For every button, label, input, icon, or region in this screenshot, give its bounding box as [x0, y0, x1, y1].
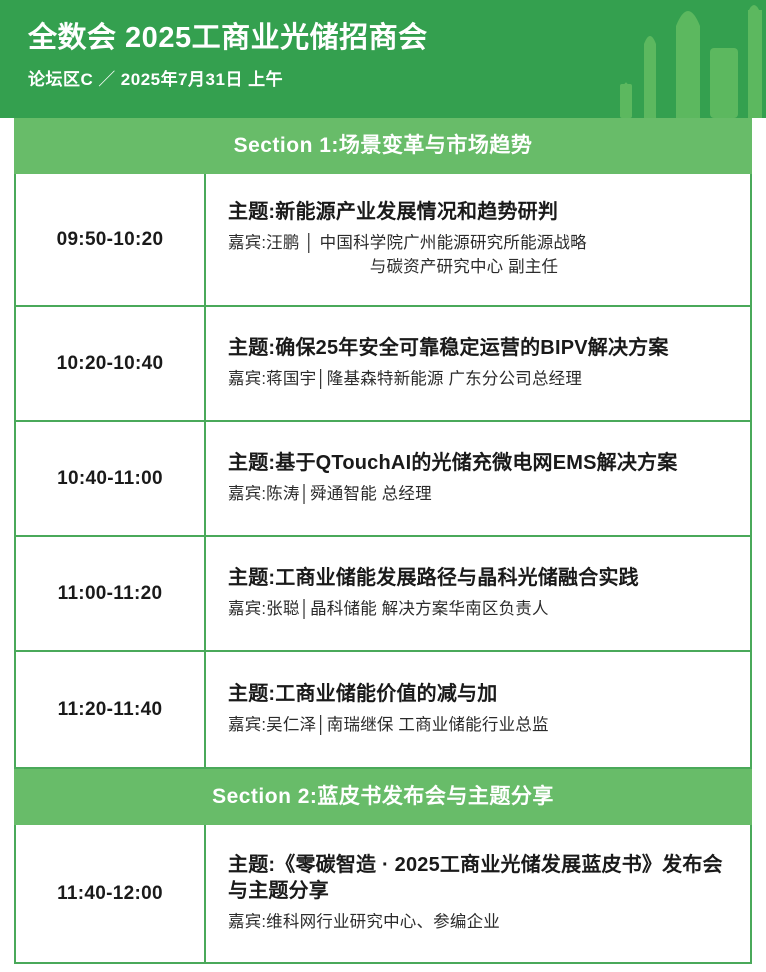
guest-line-1: 嘉宾:汪鹏 │ 中国科学院广州能源研究所能源战略	[228, 234, 587, 252]
agenda-table: Section 1:场景变革与市场趋势 09:50-10:20 主题:新能源产业…	[14, 118, 752, 964]
time-label: 11:20-11:40	[58, 699, 163, 721]
section-rows-2: 11:40-12:00 主题:《零碳智造 · 2025工商业光储发展蓝皮书》发布…	[14, 825, 752, 964]
session-topic: 主题:基于QTouchAI的光储充微电网EMS解决方案	[228, 450, 732, 476]
table-row[interactable]: 10:20-10:40 主题:确保25年安全可靠稳定运营的BIPV解决方案 嘉宾…	[16, 307, 750, 422]
header-subtitle: 论坛区C／2025年7月31日 上午	[28, 65, 428, 90]
session-guest: 嘉宾:蒋国宇│隆基森特新能源 广东分公司总经理	[228, 368, 732, 392]
subtitle-separator: ／	[93, 70, 121, 89]
session-topic: 主题:《零碳智造 · 2025工商业光储发展蓝皮书》发布会与主题分享	[228, 852, 732, 904]
table-row[interactable]: 09:50-10:20 主题:新能源产业发展情况和趋势研判 嘉宾:汪鹏 │ 中国…	[16, 174, 750, 307]
table-row[interactable]: 11:20-11:40 主题:工商业储能价值的减与加 嘉宾:吴仁泽│南瑞继保 工…	[16, 652, 750, 767]
city-skyline-icon	[600, 0, 766, 118]
venue-label: 论坛区C	[28, 70, 93, 89]
time-label: 09:50-10:20	[57, 229, 164, 251]
page-title: 全数会 2025工商业光储招商会	[28, 20, 428, 56]
time-label: 11:00-11:20	[58, 583, 163, 605]
time-cell: 11:00-11:20	[16, 537, 206, 650]
detail-cell: 主题:确保25年安全可靠稳定运营的BIPV解决方案 嘉宾:蒋国宇│隆基森特新能源…	[206, 307, 750, 420]
time-cell: 10:40-11:00	[16, 422, 206, 535]
session-guest: 嘉宾:汪鹏 │ 中国科学院广州能源研究所能源战略 与碳资产研究中心 副主任	[228, 232, 732, 280]
detail-cell: 主题:《零碳智造 · 2025工商业光储发展蓝皮书》发布会与主题分享 嘉宾:维科…	[206, 825, 750, 962]
time-cell: 11:40-12:00	[16, 825, 206, 962]
date-label: 2025年7月31日 上午	[121, 70, 283, 89]
time-cell: 09:50-10:20	[16, 174, 206, 305]
detail-cell: 主题:工商业储能发展路径与晶科光储融合实践 嘉宾:张聪│晶科储能 解决方案华南区…	[206, 537, 750, 650]
session-topic: 主题:工商业储能价值的减与加	[228, 681, 732, 707]
section-header-2: Section 2:蓝皮书发布会与主题分享	[14, 769, 752, 825]
poster-header: 全数会 2025工商业光储招商会 论坛区C／2025年7月31日 上午	[0, 0, 766, 118]
session-guest: 嘉宾:陈涛│舜通智能 总经理	[228, 483, 732, 507]
detail-cell: 主题:工商业储能价值的减与加 嘉宾:吴仁泽│南瑞继保 工商业储能行业总监	[206, 652, 750, 767]
time-label: 10:20-10:40	[57, 353, 164, 375]
table-row[interactable]: 11:40-12:00 主题:《零碳智造 · 2025工商业光储发展蓝皮书》发布…	[16, 825, 750, 962]
session-topic: 主题:工商业储能发展路径与晶科光储融合实践	[228, 565, 732, 591]
session-guest: 嘉宾:维科网行业研究中心、参编企业	[228, 911, 732, 935]
time-label: 10:40-11:00	[57, 468, 163, 490]
session-guest: 嘉宾:张聪│晶科储能 解决方案华南区负责人	[228, 598, 732, 622]
session-topic: 主题:新能源产业发展情况和趋势研判	[228, 199, 732, 225]
agenda-poster: 全数会 2025工商业光储招商会 论坛区C／2025年7月31日 上午 Sect…	[0, 0, 766, 972]
detail-cell: 主题:新能源产业发展情况和趋势研判 嘉宾:汪鹏 │ 中国科学院广州能源研究所能源…	[206, 174, 750, 305]
table-row[interactable]: 10:40-11:00 主题:基于QTouchAI的光储充微电网EMS解决方案 …	[16, 422, 750, 537]
section-rows-1: 09:50-10:20 主题:新能源产业发展情况和趋势研判 嘉宾:汪鹏 │ 中国…	[14, 174, 752, 769]
section-header-1: Section 1:场景变革与市场趋势	[14, 118, 752, 174]
time-label: 11:40-12:00	[57, 883, 163, 905]
detail-cell: 主题:基于QTouchAI的光储充微电网EMS解决方案 嘉宾:陈涛│舜通智能 总…	[206, 422, 750, 535]
guest-line-2: 与碳资产研究中心 副主任	[228, 256, 732, 280]
time-cell: 10:20-10:40	[16, 307, 206, 420]
header-text-block: 全数会 2025工商业光储招商会 论坛区C／2025年7月31日 上午	[28, 20, 428, 90]
session-guest: 嘉宾:吴仁泽│南瑞继保 工商业储能行业总监	[228, 714, 732, 738]
session-topic: 主题:确保25年安全可靠稳定运营的BIPV解决方案	[228, 335, 732, 361]
time-cell: 11:20-11:40	[16, 652, 206, 767]
table-row[interactable]: 11:00-11:20 主题:工商业储能发展路径与晶科光储融合实践 嘉宾:张聪│…	[16, 537, 750, 652]
